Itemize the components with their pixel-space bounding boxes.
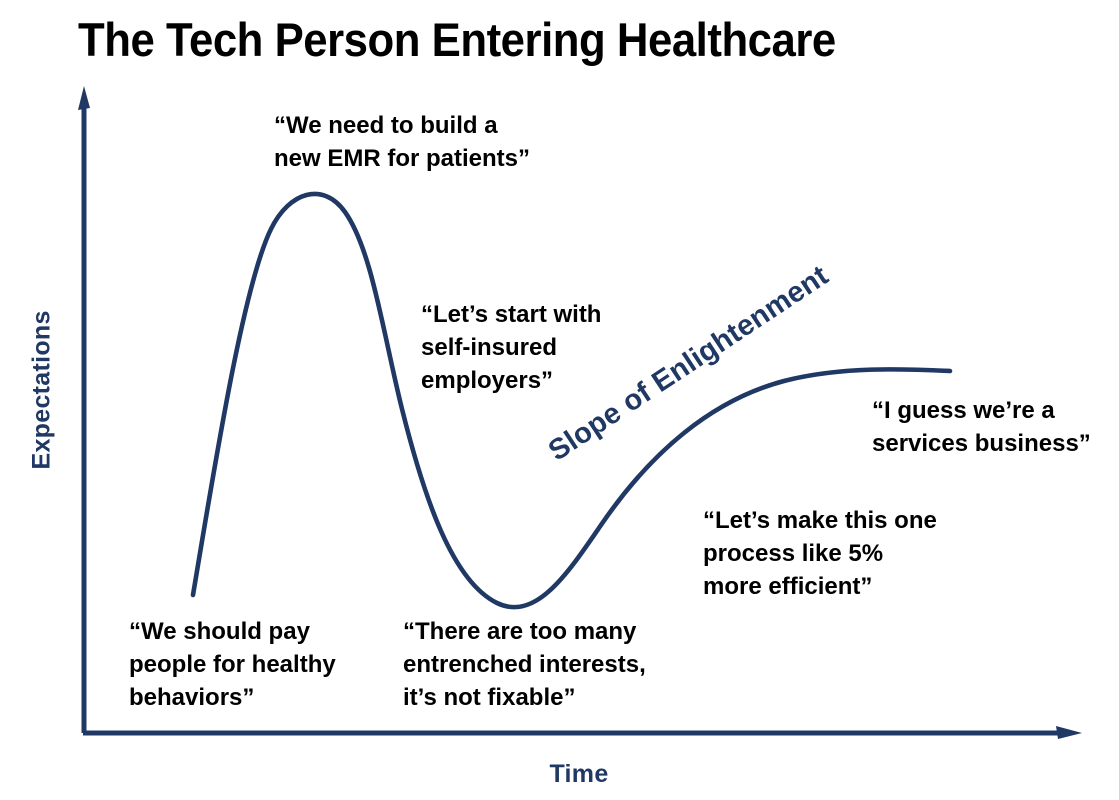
y-axis-arrowhead — [78, 86, 90, 110]
callout-healthy-behaviors: “We should pay people for healthy behavi… — [129, 615, 409, 714]
x-axis-arrowhead — [1056, 726, 1082, 739]
y-axis-title: Expectations — [28, 340, 57, 470]
callout-new-emr: “We need to build a new EMR for patients… — [274, 109, 604, 175]
callout-entrenched-interests: “There are too many entrenched interests… — [403, 615, 703, 714]
x-axis-title: Time — [489, 760, 669, 789]
hype-cycle-slide: The Tech Person Entering Healthcare Expe… — [0, 0, 1119, 800]
callout-services-business: “I guess we’re a services business” — [872, 394, 1119, 460]
callout-more-efficient: “Let’s make this one process like 5% mor… — [703, 504, 993, 603]
callout-self-insured-employers: “Let’s start with self-insured employers… — [421, 298, 671, 397]
